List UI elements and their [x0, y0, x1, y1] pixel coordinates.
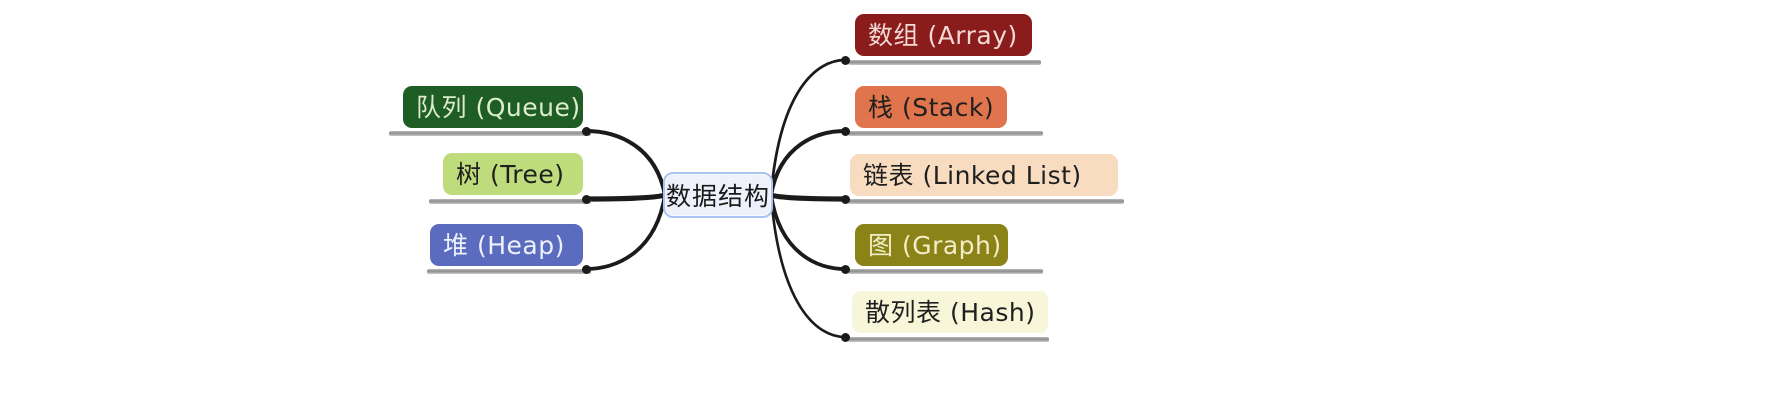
branch-connector-dot [582, 265, 591, 274]
branch-node-label: 散列表 (Hash) [865, 300, 1035, 325]
branch-underline-bar [848, 199, 1124, 204]
branch-connector-curve [771, 195, 845, 269]
branch-connector-curve [586, 131, 665, 195]
branch-node-label: 队列 (Queue) [416, 95, 581, 120]
branch-node[interactable]: 数组 (Array) [855, 14, 1032, 56]
branch-underline-bar [848, 131, 1043, 136]
branch-connector-dot [841, 333, 850, 342]
branch-connector-curve [771, 131, 845, 195]
branch-connector-dot [841, 265, 850, 274]
branch-underline-bar [427, 269, 591, 274]
branch-underline-bar [848, 269, 1043, 274]
branch-underline-bar [848, 337, 1049, 342]
branch-underline-bar [389, 131, 591, 136]
branch-node[interactable]: 树 (Tree) [443, 153, 583, 195]
branch-connector-curve [771, 60, 845, 195]
branch-node-label: 树 (Tree) [456, 162, 565, 187]
branch-connector-curve [586, 195, 665, 199]
branch-node-label: 栈 (Stack) [868, 95, 994, 120]
branch-node[interactable]: 堆 (Heap) [430, 224, 583, 266]
branch-node-label: 图 (Graph) [868, 233, 1002, 258]
branch-underline-bar [429, 199, 591, 204]
branch-node[interactable]: 图 (Graph) [855, 224, 1008, 266]
branch-connector-curve [771, 195, 845, 337]
center-node-label: 数据结构 [666, 177, 770, 213]
branch-connector-curve [586, 195, 665, 269]
branch-connector-dot [841, 195, 850, 204]
branch-underline-bar [848, 60, 1041, 65]
branch-connector-dot [841, 127, 850, 136]
center-node-data-structure[interactable]: 数据结构 [663, 172, 773, 218]
branch-connector-dot [582, 195, 591, 204]
branch-connector-curve [771, 195, 845, 199]
branch-node[interactable]: 散列表 (Hash) [852, 291, 1048, 333]
branch-node[interactable]: 链表 (Linked List) [850, 154, 1118, 196]
branch-connector-dot [841, 56, 850, 65]
branch-node-label: 堆 (Heap) [443, 233, 565, 258]
branch-node-label: 数组 (Array) [868, 23, 1018, 48]
branch-node[interactable]: 队列 (Queue) [403, 86, 583, 128]
branch-node-label: 链表 (Linked List) [863, 163, 1082, 188]
branch-node[interactable]: 栈 (Stack) [855, 86, 1007, 128]
mindmap-canvas: 数据结构 队列 (Queue)树 (Tree)堆 (Heap)数组 (Array… [0, 0, 1792, 404]
branch-connector-dot [582, 127, 591, 136]
